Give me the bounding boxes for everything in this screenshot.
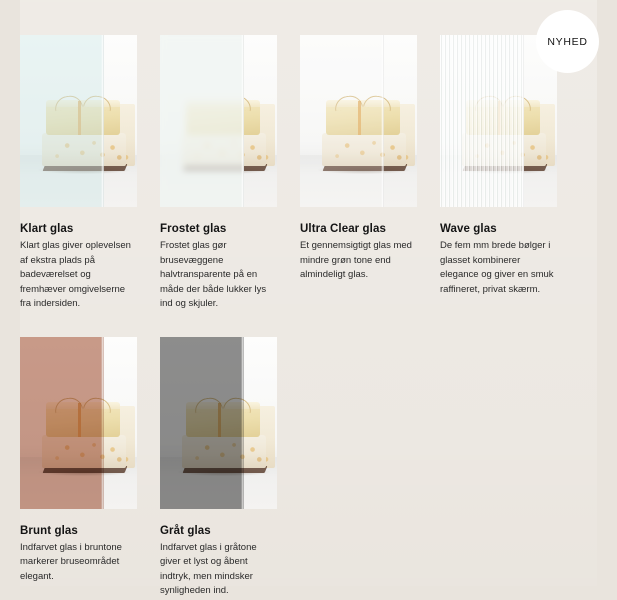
glass-card-title: Wave glas: [440, 222, 557, 236]
twine-strap: [358, 101, 361, 135]
glass-card-klart-glas[interactable]: Klart glas Klart glas giver oplevelsen a…: [20, 35, 137, 312]
glass-card-brunt-glas[interactable]: Brunt glas Indfarvet glas i bruntone mar…: [20, 337, 137, 599]
nyhed-badge-label: NYHED: [547, 36, 587, 48]
twine-strap: [78, 101, 81, 135]
soap-stack: [322, 85, 408, 171]
glass-card-description: Et gennemsigtigt glas med mindre grøn to…: [300, 239, 417, 282]
twine-strap: [218, 403, 221, 437]
glass-card-image-wave-glas[interactable]: [440, 35, 557, 207]
soap-stack: [462, 85, 548, 171]
glass-card-wave-glas[interactable]: Wave glas De fem mm brede bølger i glass…: [440, 35, 557, 312]
soap-stack: [182, 387, 268, 473]
soap-bar-lower: [182, 133, 244, 166]
frosted-blur-layer: [160, 35, 244, 207]
twine-bow: [332, 95, 394, 109]
soap-stack: [42, 85, 128, 171]
glass-card-description: Frostet glas gør brusevæggene halvtransp…: [160, 239, 277, 311]
twine-bow: [192, 397, 254, 411]
glass-card-graat-glas[interactable]: Gråt glas Indfarvet glas i gråtone giver…: [160, 337, 277, 599]
frosted-blur-clip: [160, 35, 244, 207]
twine-strap: [498, 101, 501, 135]
twine-bow: [52, 95, 114, 109]
twine-strap: [78, 403, 81, 437]
nyhed-badge[interactable]: NYHED: [536, 10, 599, 73]
soap-bar-lower: [182, 435, 266, 468]
glass-card-title: Brunt glas: [20, 524, 137, 538]
glass-card-title: Gråt glas: [160, 524, 277, 538]
soap-bar-upper: [186, 104, 244, 135]
glass-card-title: Ultra Clear glas: [300, 222, 417, 236]
soap-bar-lower: [42, 133, 126, 166]
soap-bar-upper-top: [186, 100, 244, 107]
twine-bow: [472, 95, 534, 109]
glass-variants-grid: Klart glas Klart glas giver oplevelsen a…: [20, 35, 597, 599]
glass-card-image-frostet-glas[interactable]: [160, 35, 277, 207]
glass-card-title: Frostet glas: [160, 222, 277, 236]
soap-bar-lower: [322, 133, 406, 166]
glass-card-description: De fem mm brede bølger i glasset kombine…: [440, 239, 557, 297]
glass-card-title: Klart glas: [20, 222, 137, 236]
glass-card-image-graat-glas[interactable]: [160, 337, 277, 509]
glass-card-description: Indfarvet glas i bruntone markerer bruse…: [20, 541, 137, 584]
glass-card-description: Klart glas giver oplevelsen af ekstra pl…: [20, 239, 137, 311]
glass-card-frostet-glas[interactable]: Frostet glas Frostet glas gør brusevægge…: [160, 35, 277, 312]
glass-card-ultra-clear-glas[interactable]: Ultra Clear glas Et gennemsigtigt glas m…: [300, 35, 417, 312]
glass-card-image-ultra-clear-glas[interactable]: [300, 35, 417, 207]
glass-card-image-brunt-glas[interactable]: [20, 337, 137, 509]
glass-card-image-klart-glas[interactable]: [20, 35, 137, 207]
soap-stack: [42, 387, 128, 473]
glass-card-description: Indfarvet glas i gråtone giver et lyst o…: [160, 541, 277, 599]
twine-bow: [52, 397, 114, 411]
glass-variants-row-2: Brunt glas Indfarvet glas i bruntone mar…: [20, 337, 597, 599]
soap-stack-blurred: [182, 85, 244, 171]
glass-variants-row-1: Klart glas Klart glas giver oplevelsen a…: [20, 35, 597, 312]
soap-bar-lower: [42, 435, 126, 468]
soap-bar-lower: [462, 133, 546, 166]
